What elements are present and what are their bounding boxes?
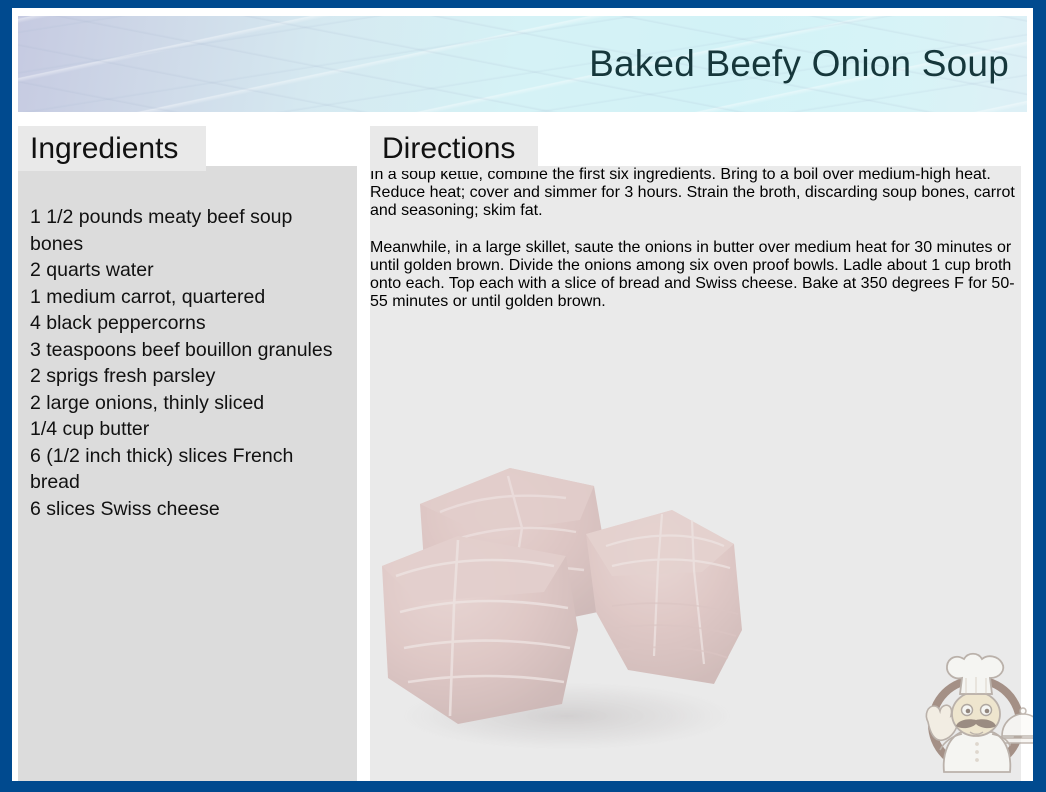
tab-ingredients[interactable]: Ingredients	[18, 126, 206, 171]
ingredients-body: 1 1/2 pounds meaty beef soup bones 2 qua…	[30, 204, 345, 522]
list-item: 4 black peppercorns	[30, 310, 345, 337]
page-title: Baked Beefy Onion Soup	[589, 43, 1009, 85]
title-banner: Baked Beefy Onion Soup	[18, 16, 1027, 112]
chef-with-cloche-logo	[910, 648, 1033, 780]
recipe-card: Baked Beefy Onion Soup Ingredients 1 1/2…	[0, 0, 1046, 792]
list-item: 1 medium carrot, quartered	[30, 284, 345, 311]
directions-heading: Directions	[382, 132, 515, 166]
directions-body: In a soup kettle, combine the first six …	[370, 166, 1021, 311]
list-item: 6 slices Swiss cheese	[30, 496, 345, 523]
list-item: 2 quarts water	[30, 257, 345, 284]
ingredients-list: 1 1/2 pounds meaty beef soup bones 2 qua…	[30, 204, 345, 522]
directions-paragraph: Meanwhile, in a large skillet, saute the…	[370, 239, 1021, 311]
list-item: 1/4 cup butter	[30, 416, 345, 443]
list-item: 3 teaspoons beef bouillon granules	[30, 337, 345, 364]
beef-chunks-photo	[370, 416, 782, 776]
directions-paragraph: In a soup kettle, combine the first six …	[370, 166, 1021, 220]
recipe-page: Baked Beefy Onion Soup Ingredients 1 1/2…	[12, 8, 1033, 781]
tab-directions[interactable]: Directions	[370, 126, 538, 171]
ingredients-panel: 1 1/2 pounds meaty beef soup bones 2 qua…	[18, 166, 357, 781]
list-item: 2 large onions, thinly sliced	[30, 390, 345, 417]
ingredients-heading: Ingredients	[30, 132, 178, 166]
list-item: 6 (1/2 inch thick) slices French bread	[30, 443, 345, 496]
list-item: 1 1/2 pounds meaty beef soup bones	[30, 204, 345, 257]
list-item: 2 sprigs fresh parsley	[30, 363, 345, 390]
